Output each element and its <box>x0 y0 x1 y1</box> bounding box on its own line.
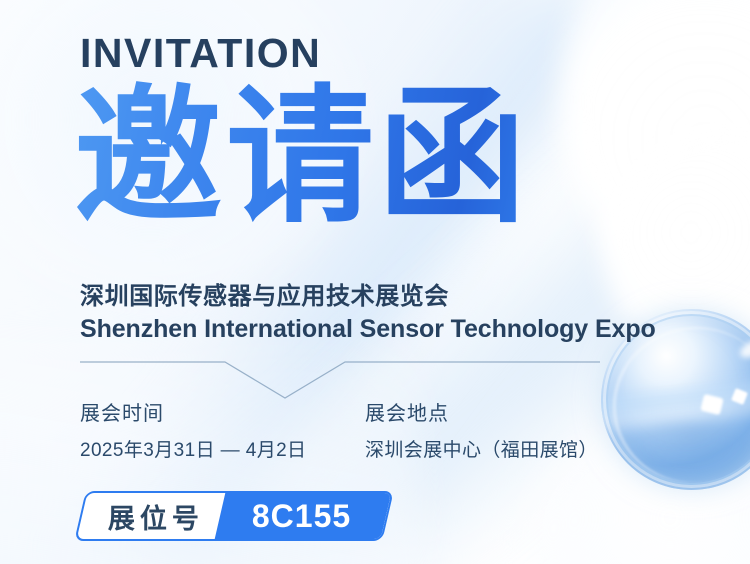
kicker-invitation: INVITATION <box>80 33 321 74</box>
info-exhibition-time: 展会时间 2025年3月31日 — 4月2日 <box>80 404 306 460</box>
info-time-value: 2025年3月31日 — 4月2日 <box>80 441 306 460</box>
subtitle-english: Shenzhen International Sensor Technology… <box>80 315 656 344</box>
info-time-label: 展会时间 <box>80 404 306 424</box>
notched-divider <box>60 352 620 400</box>
booth-number-value-area: 8C155 <box>215 493 392 539</box>
booth-number-label-area: 展位号 <box>77 493 226 539</box>
info-venue-value: 深圳会展中心（福田展馆） <box>365 441 598 460</box>
subtitle-chinese: 深圳国际传感器与应用技术展览会 <box>80 276 449 311</box>
page-title: 邀请函 <box>74 78 530 238</box>
booth-number-value: 8C155 <box>252 498 351 535</box>
info-venue-label: 展会地点 <box>365 404 598 424</box>
info-exhibition-venue: 展会地点 深圳会展中心（福田展馆） <box>365 404 598 460</box>
booth-number-badge: 展位号 8C155 <box>74 491 394 541</box>
booth-number-label: 展位号 <box>104 497 204 536</box>
poster-content: INVITATION 邀请函 深圳国际传感器与应用技术展览会 Shenzhen … <box>0 0 750 564</box>
invitation-poster: INVITATION 邀请函 深圳国际传感器与应用技术展览会 Shenzhen … <box>0 0 750 564</box>
divider-icon <box>60 352 620 400</box>
